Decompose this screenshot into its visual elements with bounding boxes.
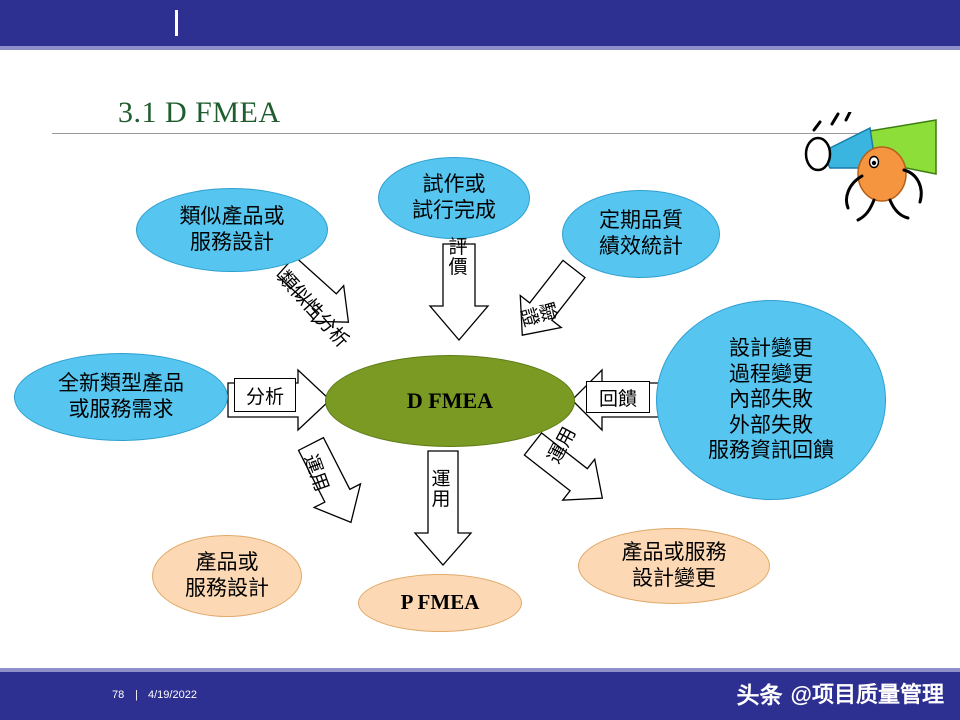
node-periodic-quality-label: 定期品質 績效統計 <box>599 208 683 259</box>
node-new-type-demand[interactable]: 全新類型產品 或服務需求 <box>14 353 228 441</box>
title-divider <box>52 133 908 134</box>
node-trial-complete-label: 試作或 試行完成 <box>412 172 496 223</box>
node-p-fmea-label: P FMEA <box>401 590 480 616</box>
label-apply-right: 運用 <box>545 424 580 466</box>
node-product-service-change-label: 產品或服務 設計變更 <box>622 540 727 591</box>
label-apply-center: 運 用 <box>426 470 456 510</box>
label-feedback: 回饋 <box>586 381 650 413</box>
watermark-text: @项目质量管理 <box>791 677 944 709</box>
node-product-service-design-label: 產品或 服務設計 <box>185 550 269 601</box>
arrow-apply-left <box>288 432 374 534</box>
mascot-megaphone-character <box>786 112 946 232</box>
header-bar <box>0 0 960 46</box>
node-periodic-quality[interactable]: 定期品質 績效統計 <box>562 190 720 278</box>
node-new-type-demand-label: 全新類型產品 或服務需求 <box>58 371 184 422</box>
slide-canvas: 3.1 D FMEA <box>0 0 960 720</box>
node-product-service-design[interactable]: 產品或 服務設計 <box>152 535 302 617</box>
label-apply-left: 運用 <box>300 452 331 494</box>
footer-separator: | <box>135 689 138 701</box>
header-underline <box>0 46 960 50</box>
footer-slide-number: 78 <box>112 689 124 701</box>
label-verify: 驗證 <box>515 295 560 334</box>
node-change-feedback[interactable]: 設計變更 過程變更 內部失敗 外部失敗 服務資訊回饋 <box>656 300 886 500</box>
node-product-service-change[interactable]: 產品或服務 設計變更 <box>578 528 770 604</box>
node-d-fmea-center[interactable]: D FMEA <box>325 355 575 447</box>
node-p-fmea[interactable]: P FMEA <box>358 574 522 632</box>
node-trial-complete[interactable]: 試作或 試行完成 <box>378 157 530 239</box>
node-d-fmea-center-label: D FMEA <box>407 388 493 415</box>
watermark: 头条 @项目质量管理 <box>737 676 944 710</box>
node-similar-product-label: 類似產品或 服務設計 <box>180 204 285 255</box>
page-title: 3.1 D FMEA <box>118 96 281 130</box>
label-evaluate: 評 價 <box>443 238 473 278</box>
header-tick-mark <box>175 10 178 36</box>
label-analyze: 分析 <box>234 378 296 412</box>
label-similarity-analysis: 類似性分析 <box>274 268 352 351</box>
watermark-logo: 头条 <box>737 676 783 710</box>
node-change-feedback-label: 設計變更 過程變更 內部失敗 外部失敗 服務資訊回饋 <box>708 336 834 464</box>
footer-date: 4/19/2022 <box>148 689 197 701</box>
node-similar-product[interactable]: 類似產品或 服務設計 <box>136 188 328 272</box>
